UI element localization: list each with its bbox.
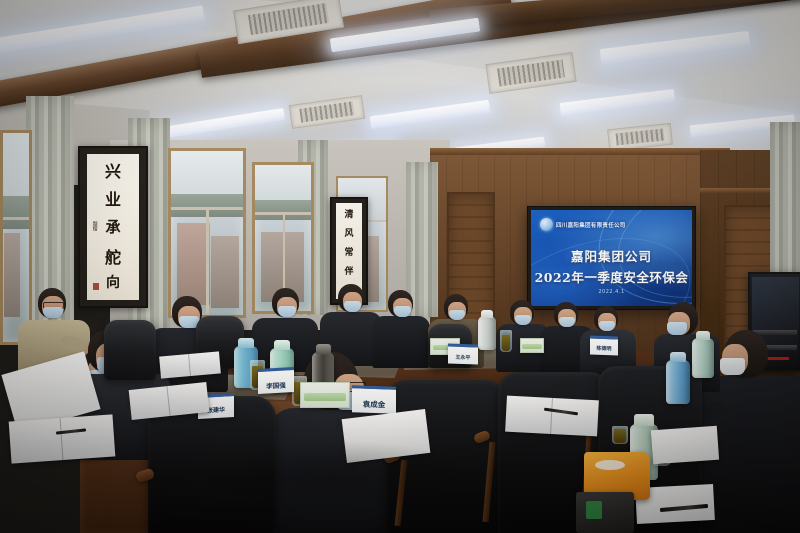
face-mask: [720, 358, 745, 375]
scroll2-char-4: 伴: [336, 268, 363, 277]
scroll-char-1: 兴: [87, 164, 138, 180]
tea-cup-3[interactable]: [500, 330, 512, 352]
projection-screen-frame: 四川嘉阳集团有限责任公司 嘉阳集团公司 2022年一季度安全环保会 2022.4…: [527, 206, 696, 310]
window-center-a: [168, 148, 246, 318]
meeting-room-photo: 兴 业 承 舵 向 题赠 清 风 常 伴 四川嘉阳集团有限责任公司 嘉: [0, 0, 800, 533]
white-thermos-cap: [481, 310, 493, 318]
wood-trim-top: [430, 148, 730, 155]
placard-4: 王永平: [448, 343, 478, 364]
screen-title-line2: 2022年一季度安全环保会: [531, 267, 692, 286]
document-sheet-3[interactable]: [651, 426, 719, 465]
mint-thermos-cap: [274, 340, 290, 350]
calligraphy-scroll-left: 兴 业 承 舵 向 题赠: [78, 146, 148, 308]
company-logo-text: 四川嘉阳集团有限责任公司: [556, 221, 626, 229]
company-emblem-icon: [540, 218, 553, 231]
scroll2-char-1: 清: [336, 211, 363, 220]
tissue-box-1[interactable]: [300, 382, 350, 408]
face-mask: [394, 306, 411, 317]
thermos-right-a-cap: [696, 331, 710, 340]
thermos-bottom-right-cap: [634, 414, 654, 426]
screen-logo-row: 四川嘉阳集团有限责任公司: [540, 218, 626, 231]
placard-name: 陈德明: [590, 345, 618, 353]
face-mask: [344, 301, 361, 312]
tissue-box-3[interactable]: [520, 338, 544, 353]
blue-thermos-cap: [238, 338, 254, 348]
placard-5: 陈德明: [590, 336, 618, 356]
face-mask: [278, 306, 296, 317]
white-thermos-flask[interactable]: [478, 316, 496, 350]
scroll-char-4: 舵: [87, 250, 138, 266]
screen-title-line1: 嘉阳集团公司: [531, 246, 692, 265]
thermos-right-b[interactable]: [666, 360, 690, 404]
placard-2: 袁成金: [352, 385, 396, 414]
table-shadow: [180, 440, 480, 510]
scroll-signature: 题赠: [91, 221, 96, 231]
thermos-right-b-cap: [670, 352, 686, 362]
placard-name: 李国强: [258, 379, 294, 391]
projection-screen: 四川嘉阳集团有限责任公司 嘉阳集团公司 2022年一季度安全环保会 2022.4…: [531, 210, 692, 306]
scroll2-char-3: 常: [336, 249, 363, 258]
placard-1: 李国强: [258, 367, 294, 394]
scroll-seal: [93, 283, 99, 290]
open-notebook-1[interactable]: [9, 414, 116, 463]
face-mask: [43, 307, 63, 318]
placard-name: 袁成金: [352, 398, 396, 411]
face-mask: [667, 322, 687, 335]
steel-thermos-cap: [316, 344, 331, 354]
scroll-char-2: 业: [87, 192, 138, 208]
chair-back-1[interactable]: [104, 320, 156, 380]
placard-name: 王永平: [448, 353, 478, 361]
screen-date: 2022.4.1: [531, 289, 692, 295]
tea-cup-4[interactable]: [612, 426, 628, 444]
thermos-right-a[interactable]: [692, 338, 714, 378]
scroll2-char-2: 风: [336, 230, 363, 239]
open-notebook-3[interactable]: [505, 396, 599, 437]
dark-shopping-bag[interactable]: [576, 492, 634, 533]
